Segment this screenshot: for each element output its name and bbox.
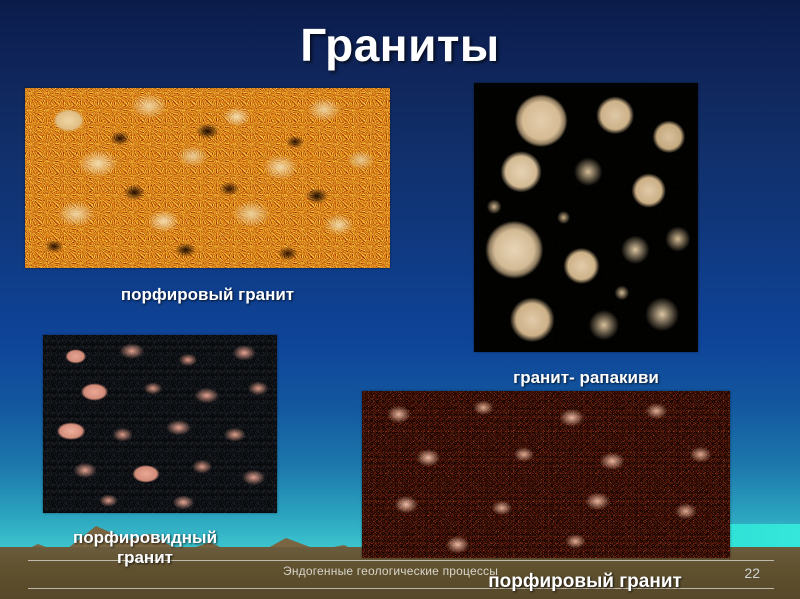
photo-porphyritic-granite[interactable] (43, 335, 277, 513)
photo-porphyry-granite-2[interactable] (362, 391, 730, 558)
granite-texture-salmon (362, 391, 730, 558)
photo-porphyry-granite[interactable] (25, 88, 390, 268)
photo-rapakivi-granite[interactable] (474, 83, 698, 352)
presentation-slide: Граниты порфировый гранит гранит- рапаки… (0, 0, 800, 599)
granite-texture-porphyritic (43, 335, 277, 513)
page-title: Граниты (0, 18, 800, 72)
caption-porphyry-granite: порфировый гранит (25, 285, 390, 305)
granite-texture-porphyry (25, 88, 390, 268)
page-number: 22 (744, 565, 760, 581)
granite-texture-rapakivi (474, 83, 698, 352)
caption-rapakivi-granite: гранит- рапакиви (474, 368, 698, 388)
caption-porphyry-granite-2: порфировый гранит (420, 571, 750, 593)
caption-porphyritic-granite: порфировидный гранит (30, 528, 260, 567)
